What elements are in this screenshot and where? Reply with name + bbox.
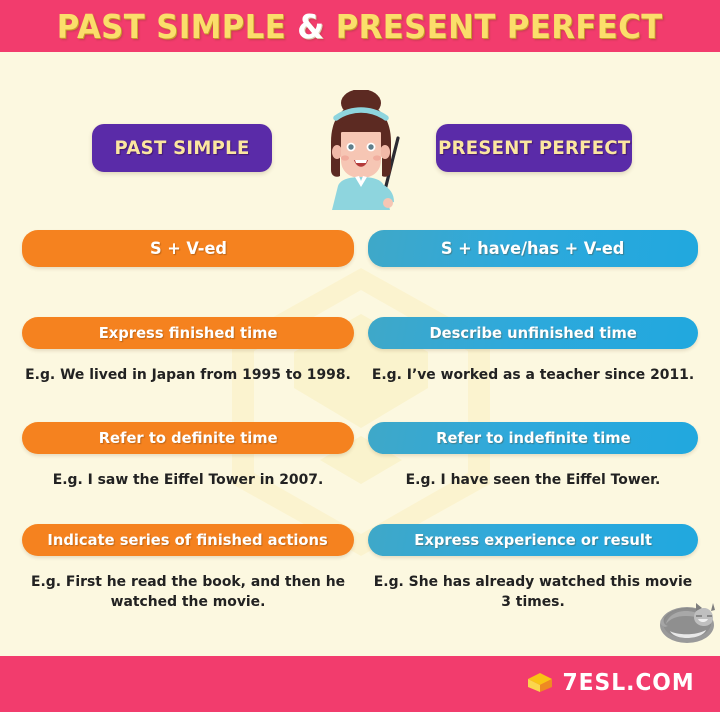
usage-label-right-text: Express experience or result — [414, 531, 652, 549]
usage-label-left-text: Refer to definite time — [99, 429, 278, 447]
page-title-part1: PAST SIMPLE — [57, 7, 286, 46]
footer-banner: 7ESL.COM — [0, 656, 720, 712]
column-title-present-perfect-label: PRESENT PERFECT — [438, 137, 630, 159]
usage-label-right: Express experience or result — [368, 524, 698, 556]
usage-label-left-text: Express finished time — [99, 324, 278, 342]
teacher-illustration — [302, 90, 420, 210]
usage-label-right: Refer to indefinite time — [368, 422, 698, 454]
example-left: E.g. First he read the book, and then he… — [17, 572, 359, 612]
usage-label-right: Describe unfinished time — [368, 317, 698, 349]
formula-past-simple-label: S + V-ed — [150, 239, 227, 259]
usage-label-right-text: Refer to indefinite time — [436, 429, 630, 447]
graduation-cap-icon — [527, 670, 553, 696]
header-banner: PAST SIMPLE & PRESENT PERFECT — [0, 0, 720, 52]
usage-label-right-text: Describe unfinished time — [429, 324, 636, 342]
formula-bar-present-perfect: S + have/has + V-ed — [368, 230, 698, 267]
site-logo[interactable]: 7ESL.COM — [527, 670, 698, 696]
example-left: E.g. We lived in Japan from 1995 to 1998… — [17, 365, 359, 385]
sleeping-cat-illustration — [656, 597, 718, 647]
example-right: E.g. I’ve worked as a teacher since 2011… — [367, 365, 699, 385]
example-left: E.g. I saw the Eiffel Tower in 2007. — [17, 470, 359, 490]
example-right: E.g. I have seen the Eiffel Tower. — [367, 470, 699, 490]
usage-label-left: Express finished time — [22, 317, 354, 349]
column-title-past-simple: PAST SIMPLE — [92, 124, 272, 172]
page-title-ampersand: & — [298, 7, 325, 46]
column-title-past-simple-label: PAST SIMPLE — [114, 137, 249, 159]
formula-present-perfect-label: S + have/has + V-ed — [441, 239, 625, 259]
usage-label-left-text: Indicate series of finished actions — [48, 531, 328, 549]
usage-label-left: Indicate series of finished actions — [22, 524, 354, 556]
usage-label-left: Refer to definite time — [22, 422, 354, 454]
page-title-part2: PRESENT PERFECT — [336, 7, 663, 46]
page-title: PAST SIMPLE & PRESENT PERFECT — [57, 7, 663, 46]
infographic-body: PAST SIMPLE PRESENT PERFECT S + V-ed S +… — [0, 52, 720, 656]
example-right: E.g. She has already watched this movie … — [367, 572, 699, 612]
site-logo-text: 7ESL.COM — [562, 670, 694, 696]
formula-bar-past-simple: S + V-ed — [22, 230, 354, 267]
column-title-present-perfect: PRESENT PERFECT — [436, 124, 632, 172]
